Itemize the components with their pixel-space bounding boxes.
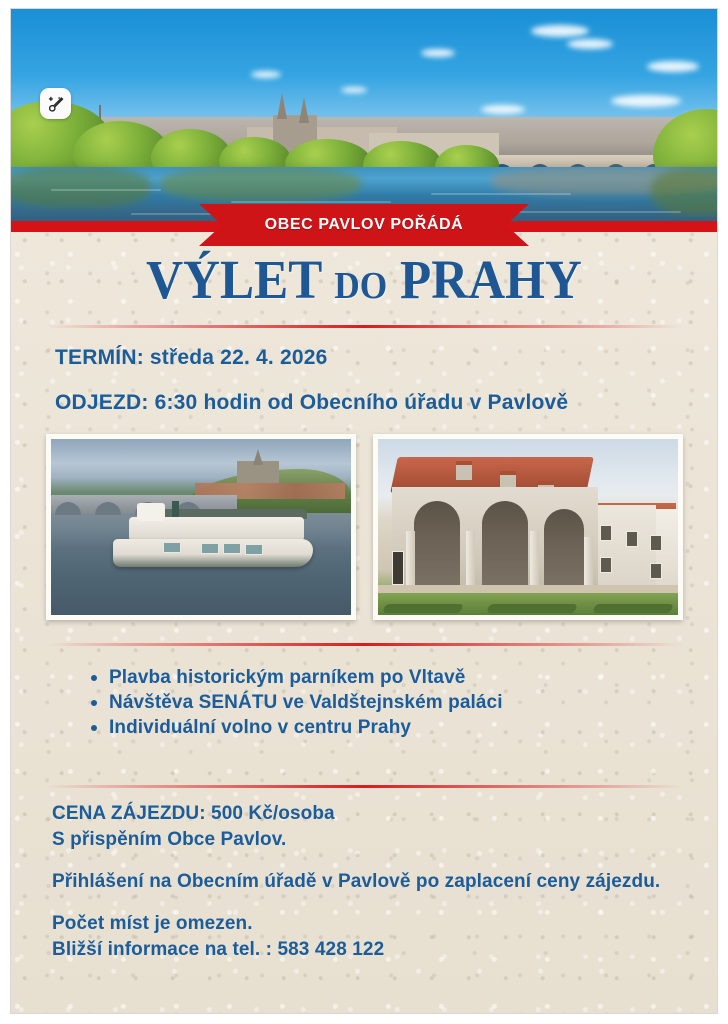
palace-window: [626, 531, 638, 547]
price-block: CENA ZÁJEZDU: 500 Kč/osoba S přispěním O…: [52, 801, 679, 853]
cloud: [251, 71, 281, 78]
steamboat-photo: [51, 439, 351, 615]
boat-window: [201, 543, 219, 554]
roof-dormer: [456, 461, 472, 480]
cloud: [421, 49, 455, 57]
cloud: [481, 105, 525, 114]
trip-departure-line: ODJEZD: 6:30 hodin od Obecního úřadu v P…: [55, 391, 568, 415]
garden-path: [378, 585, 678, 593]
page-title: VÝLET DO PRAHY: [11, 252, 717, 307]
arcade-arch: [544, 509, 584, 585]
divider-bottom: [45, 785, 683, 788]
poster-sheet: OBEC PAVLOV POŘÁDÁ VÝLET DO PRAHY TERMÍN…: [10, 8, 718, 1014]
cathedral-spire: [253, 449, 263, 465]
cathedral-spire: [299, 97, 309, 123]
registration-line: Přihlášení na Obecním úřadě v Pavlově po…: [52, 869, 679, 895]
palace-window: [600, 557, 612, 573]
list-item: Individuální volno v centru Prahy: [109, 715, 503, 740]
arcade-arch: [414, 501, 460, 585]
details-block: CENA ZÁJEZDU: 500 Kč/osoba S přispěním O…: [52, 801, 679, 963]
water-ripple: [231, 201, 391, 203]
capacity-line: Počet míst je omezen.: [52, 911, 679, 937]
list-item: Návštěva SENÁTU ve Valdštejnském paláci: [109, 690, 503, 715]
photo-gallery: [11, 434, 717, 620]
list-item: Plavba historickým parníkem po Vltavě: [109, 665, 503, 690]
boat-window: [163, 542, 181, 553]
contact-block: Počet míst je omezen. Bližší informace n…: [52, 911, 679, 963]
water-ripple: [51, 189, 161, 191]
water-reflection: [11, 167, 151, 207]
garden-hedge: [486, 604, 577, 613]
contact-line: Bližší informace na tel. : 583 428 122: [52, 937, 679, 963]
ribbon-banner: OBEC PAVLOV POŘÁDÁ: [199, 204, 529, 246]
subsidy-line: S přispěním Obce Pavlov.: [52, 827, 679, 853]
palace-photo: [378, 439, 678, 615]
bridge-arch: [55, 502, 81, 515]
photo-frame-steamboat: [46, 434, 356, 620]
arcade-arch: [482, 501, 528, 585]
water-ripple: [431, 193, 571, 195]
price-line: CENA ZÁJEZDU: 500 Kč/osoba: [52, 801, 679, 827]
boat-cabin: [137, 503, 165, 521]
magic-wand-sparkle-icon[interactable]: [40, 88, 71, 119]
cathedral-spire: [277, 93, 287, 119]
garden-hedge: [382, 604, 463, 613]
cloud: [567, 39, 613, 49]
palace-window: [650, 535, 662, 551]
water-reflection: [161, 167, 361, 201]
cloud: [611, 95, 681, 107]
title-part-1: VÝLET: [146, 249, 334, 310]
registration-block: Přihlášení na Obecním úřadě v Pavlově po…: [52, 869, 679, 895]
boat-funnel: [172, 501, 179, 517]
title-part-do: DO: [334, 265, 387, 307]
palace-door: [392, 551, 404, 585]
palace-window: [650, 563, 662, 579]
divider-top: [45, 325, 683, 328]
trip-date-line: TERMÍN: středa 22. 4. 2026: [55, 346, 327, 370]
water-ripple: [511, 211, 681, 213]
divider-middle: [45, 643, 683, 646]
poster-page: OBEC PAVLOV POŘÁDÁ VÝLET DO PRAHY TERMÍN…: [0, 0, 728, 1024]
bridge-arch: [95, 502, 121, 515]
cloud: [531, 25, 589, 37]
cloud: [647, 61, 699, 72]
ribbon-label: OBEC PAVLOV POŘÁDÁ: [265, 216, 464, 234]
program-list: Plavba historickým parníkem po Vltavě Ná…: [81, 665, 503, 740]
water-reflection: [651, 167, 717, 215]
palace-window: [600, 525, 612, 541]
garden-hedge: [592, 604, 673, 613]
cloud: [341, 87, 367, 93]
boat-window: [223, 543, 241, 554]
boat-window: [245, 544, 263, 555]
title-part-2: PRAHY: [387, 249, 582, 310]
hero-prague-panorama: [11, 9, 717, 231]
photo-frame-palace: [373, 434, 683, 620]
